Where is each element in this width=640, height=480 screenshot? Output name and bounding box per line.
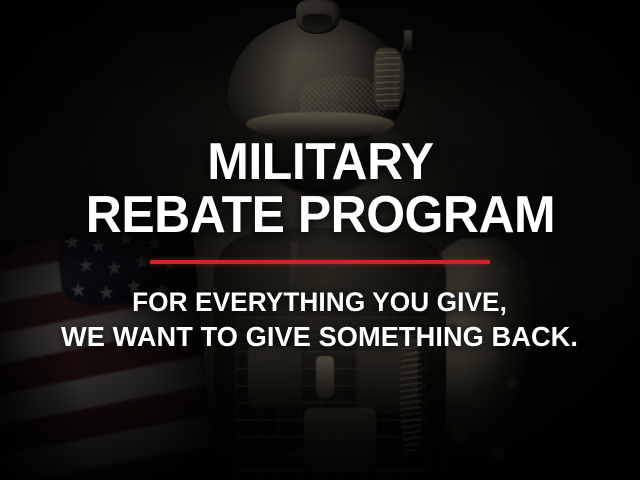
red-divider (150, 260, 490, 264)
subheadline-line-1: FOR EVERYTHING YOU GIVE, (61, 286, 578, 319)
military-rebate-banner: ★ ★ ★ ★ ★ ★ ★ ★ ★ ★ ★ ★ (0, 0, 640, 480)
headline: MILITARY REBATE PROGRAM (85, 138, 554, 241)
subheadline-line-2: WE WANT TO GIVE SOMETHING BACK. (61, 320, 578, 355)
headline-line-2: REBATE PROGRAM (85, 191, 554, 240)
headline-line-1: MILITARY (85, 138, 554, 187)
subheadline: FOR EVERYTHING YOU GIVE, WE WANT TO GIVE… (61, 286, 578, 354)
banner-content: MILITARY REBATE PROGRAM FOR EVERYTHING Y… (0, 0, 640, 480)
